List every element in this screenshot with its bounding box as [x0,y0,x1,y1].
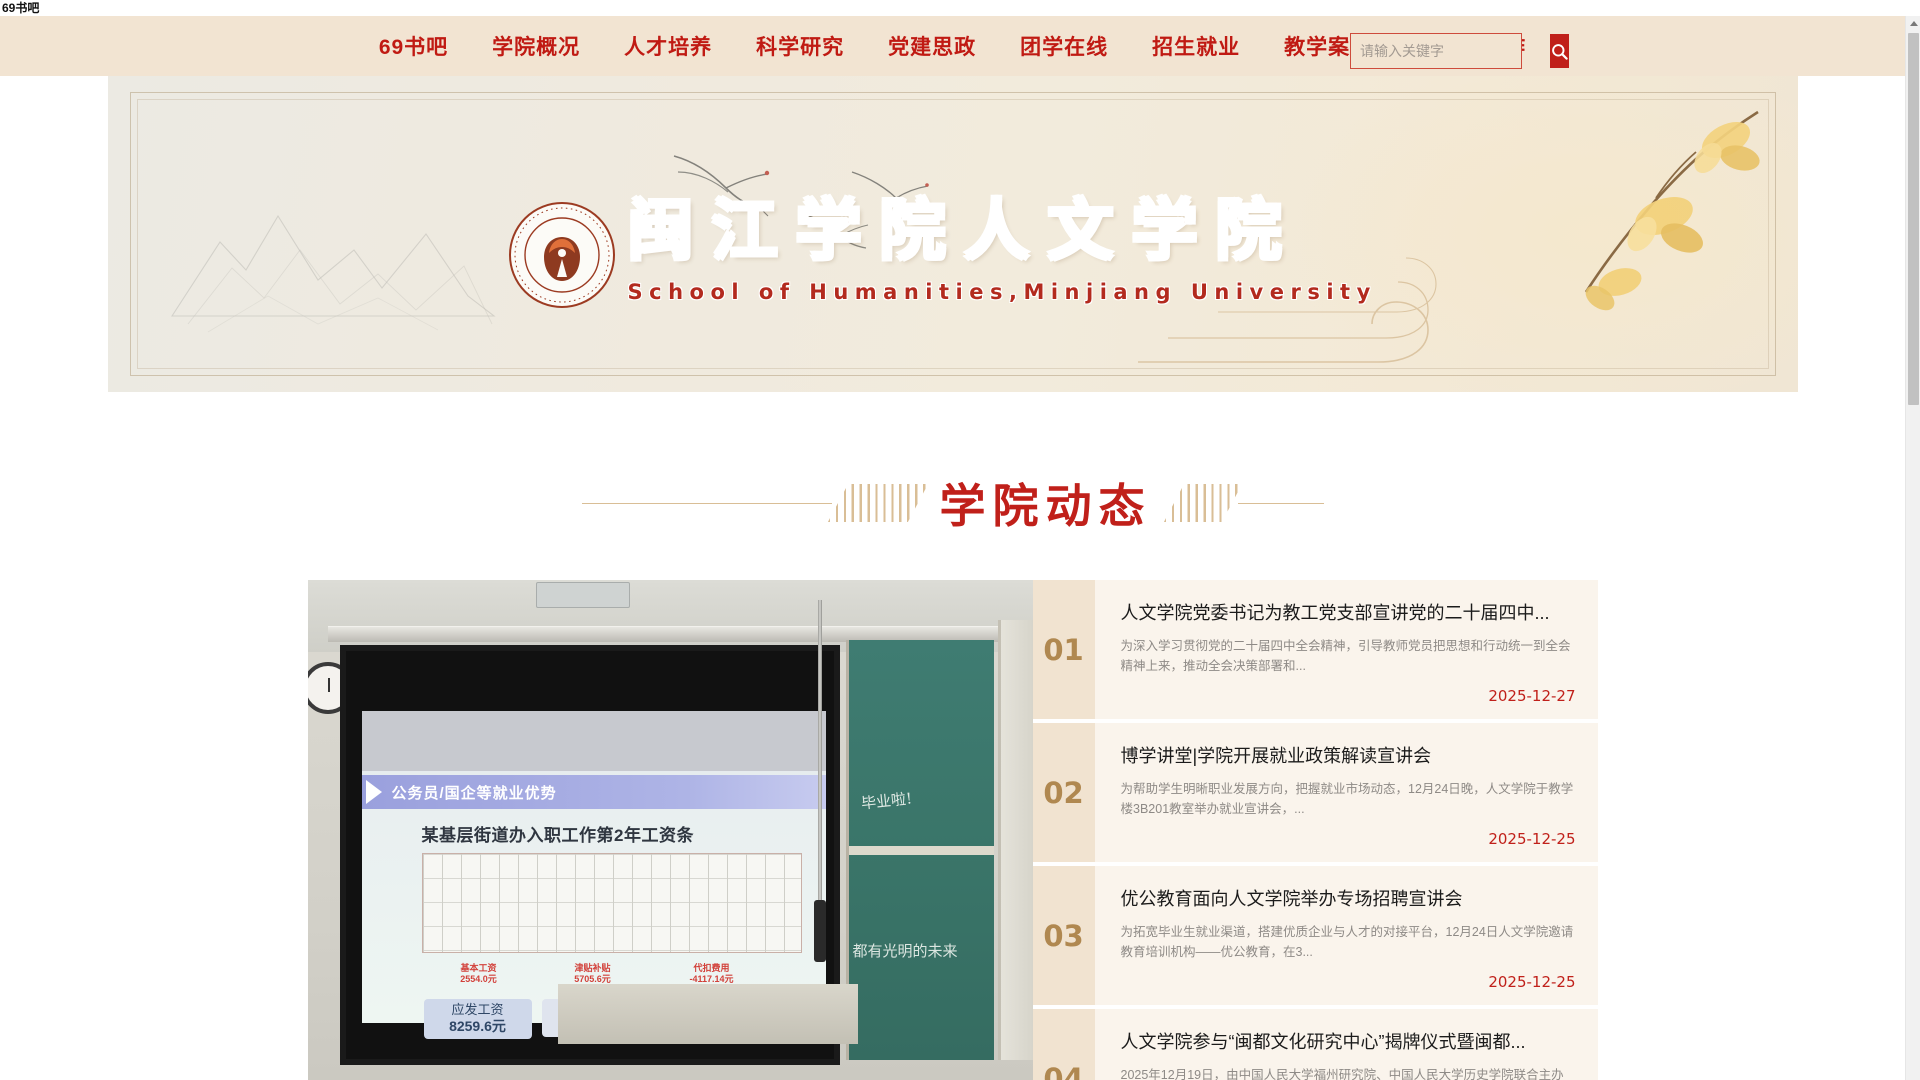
chalkboard-text-graduation: 毕业啦! [860,787,913,813]
news-list: 01 人文学院党委书记为教工党支部宣讲党的二十届四中... 为深入学习贯彻党的二… [1033,580,1598,1080]
scrollbar-thumb[interactable] [1908,33,1919,405]
news-item-title[interactable]: 优公教育面向人文学院举办专场招聘宣讲会 [1121,888,1576,911]
news-item-title[interactable]: 博学讲堂|学院开展就业政策解读宣讲会 [1121,745,1576,768]
news-list-item[interactable]: 02 博学讲堂|学院开展就业政策解读宣讲会 为帮助学生明晰职业发展方向，把握就业… [1033,723,1598,862]
news-item-title[interactable]: 人文学院参与“闽都文化研究中心”揭牌仪式暨闽都... [1121,1031,1576,1054]
chalkboard-text-future: 都有光明的未来 [853,940,958,961]
search-input[interactable] [1351,34,1550,68]
banner-title-chinese: 闽江学院人文学院 [628,194,1388,268]
news-list-item[interactable]: 03 优公教育面向人文学院举办专场招聘宣讲会 为拓宽毕业生就业渠道，搭建优质企业… [1033,866,1598,1005]
news-item-number: 01 [1033,580,1095,719]
slide-heading: 某基层街道办入职工作第2年工资条 [422,821,694,846]
news-item-body: 人文学院参与“闽都文化研究中心”揭牌仪式暨闽都... 2025年12月19日，由… [1095,1009,1598,1080]
news-item-number: 03 [1033,866,1095,1005]
ornament-rule [582,503,832,504]
banner-title-english: School of Humanities,Minjiang University [628,280,1388,304]
university-seal-logo [508,201,616,309]
page-viewport: 69书吧 学院概况 人才培养 科学研究 党建思政 团学在线 招生就业 教学案例库… [0,16,1905,1080]
news-item-body: 优公教育面向人文学院举办专场招聘宣讲会 为拓宽毕业生就业渠道，搭建优质企业与人才… [1095,866,1598,1005]
chalkboard: 毕业啦! 都有光明的未来 [846,640,994,1060]
ornament-hatch [1163,484,1241,522]
news-item-date: 2025-12-25 [1488,830,1575,848]
classroom-door [998,620,1033,1060]
nav-item-research[interactable]: 科学研究 [734,31,866,61]
nav-item-youth[interactable]: 团学在线 [998,31,1130,61]
news-item-title[interactable]: 人文学院党委书记为教工党支部宣讲党的二十届四中... [1121,602,1576,625]
site-banner: 闽江学院人文学院 School of Humanities,Minjiang U… [108,76,1798,392]
search-box [1350,33,1522,69]
news-item-summary: 为帮助学生明晰职业发展方向，把握就业市场动态，12月24日晚，人文学院于教学楼3… [1121,780,1576,819]
slide-label-base-salary: 基本工资2554.0元 [444,963,514,986]
slide-arrow-icon [366,780,382,804]
section-heading-news: 学院动态 [0,470,1905,536]
chalk-ledge [849,846,994,855]
nav-item-talent[interactable]: 人才培养 [602,31,734,61]
page-scrollbar[interactable] [1905,16,1920,1080]
banner-title-block: 闽江学院人文学院 School of Humanities,Minjiang U… [628,194,1388,304]
slide-label-deduction: 代扣费用-4117.14元 [674,963,750,986]
news-item-summary: 为深入学习贯彻党的二十届四中全会精神，引导教师党员把思想和行动统一到全会精神上来… [1121,637,1576,676]
news-item-summary: 2025年12月19日，由中国人民大学福州研究院、中国人民大学历史学院联合主办的… [1121,1066,1576,1080]
nav-item-home[interactable]: 69书吧 [357,31,470,61]
nav-item-party[interactable]: 党建思政 [866,31,998,61]
projection-screen: 公务员/国企等就业优势 某基层街道办入职工作第2年工资条 基本工资2554.0元… [362,711,826,1023]
news-item-number: 02 [1033,723,1095,862]
main-navigation: 69书吧 学院概况 人才培养 科学研究 党建思政 团学在线 招生就业 教学案例库… [0,16,1905,76]
ornament-hatch [827,484,927,522]
news-item-date: 2025-12-25 [1488,973,1575,991]
search-button[interactable] [1550,34,1569,68]
heading-ornament-right [1168,484,1324,522]
scrollbar-up-arrow[interactable] [1906,16,1920,31]
slide-top-band [362,711,826,771]
slide-payslip-table [422,853,802,953]
news-item-body: 博学讲堂|学院开展就业政策解读宣讲会 为帮助学生明晰职业发展方向，把握就业市场动… [1095,723,1598,862]
ornament-rule [1238,503,1324,504]
news-item-number: 04 [1033,1009,1095,1080]
heading-ornament-left [582,484,924,522]
section-title: 学院动态 [924,470,1168,536]
search-icon [1550,42,1569,61]
nav-item-admissions[interactable]: 招生就业 [1130,31,1262,61]
news-item-summary: 为拓宽毕业生就业渠道，搭建优质企业与人才的对接平台，12月24日人文学院邀请教育… [1121,923,1576,962]
slide-title-bar: 公务员/国企等就业优势 [362,775,826,809]
browser-page-title: 69书吧 [0,0,1920,16]
slide-label-allowance: 津贴补贴5705.6元 [558,963,628,986]
hanging-pole [818,600,822,930]
ink-mountain-illustration [168,146,498,336]
news-list-item[interactable]: 01 人文学院党委书记为教工党支部宣讲党的二十届四中... 为深入学习贯彻党的二… [1033,580,1598,719]
news-section: 毕业啦! 都有光明的未来 公务员/国企等就业优势 某基层街道办入职工作第2年工资… [308,580,1598,1080]
nav-item-overview[interactable]: 学院概况 [470,31,602,61]
news-list-item[interactable]: 04 人文学院参与“闽都文化研究中心”揭牌仪式暨闽都... 2025年12月19… [1033,1009,1598,1080]
slide-bar-label: 公务员/国企等就业优势 [392,782,557,803]
news-item-body: 人文学院党委书记为教工党支部宣讲党的二十届四中... 为深入学习贯彻党的二十届四… [1095,580,1598,719]
news-item-date: 2025-12-27 [1488,687,1575,705]
featured-news-photo[interactable]: 毕业啦! 都有光明的未来 公务员/国企等就业优势 某基层街道办入职工作第2年工资… [308,580,1033,1080]
projector [536,582,630,608]
chevron-up-icon [1910,21,1918,26]
audience-students [308,1010,1033,1080]
